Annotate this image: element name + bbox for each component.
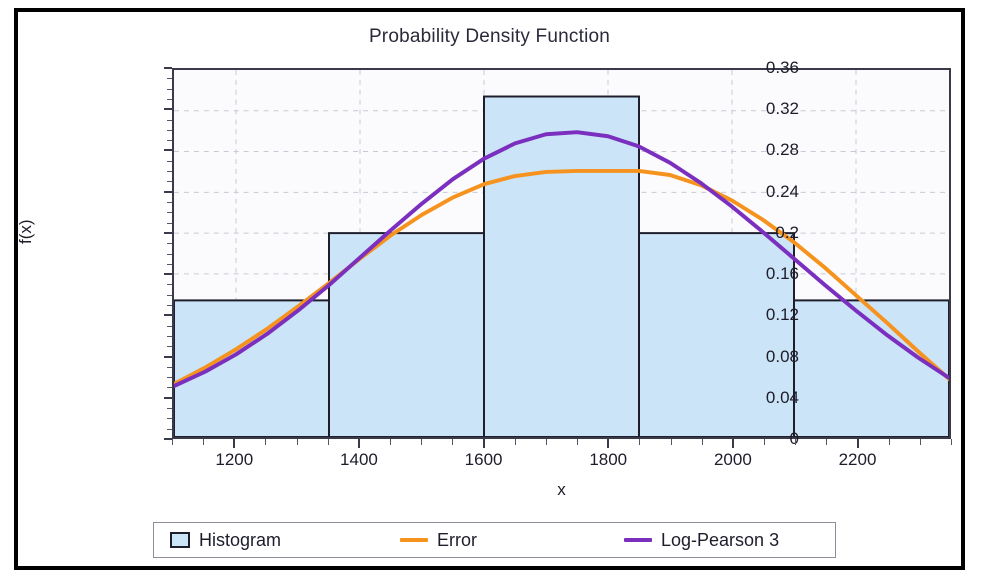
- legend-swatch-icon: [400, 538, 428, 542]
- x-tick-mark: [233, 439, 235, 448]
- x-tick-minor: [515, 439, 516, 445]
- x-tick-label: 1600: [465, 450, 503, 470]
- legend-item-error[interactable]: Error: [400, 530, 477, 551]
- histogram-bar: [174, 300, 329, 437]
- plot-area: [172, 68, 951, 439]
- chart-legend: HistogramErrorLog-Pearson 3: [153, 522, 836, 558]
- y-tick-minor: [167, 387, 172, 388]
- y-tick-minor: [167, 120, 172, 121]
- y-tick-minor: [167, 264, 172, 265]
- x-tick-mark: [607, 439, 609, 448]
- y-tick-minor: [167, 89, 172, 90]
- y-tick-label: 0.24: [766, 182, 799, 202]
- y-tick-mark: [164, 438, 172, 440]
- x-tick-minor: [702, 439, 703, 445]
- y-tick-label: 0.2: [775, 223, 799, 243]
- y-tick-mark: [164, 67, 172, 69]
- y-tick-mark: [164, 314, 172, 316]
- legend-item-label: Error: [437, 530, 477, 551]
- legend-swatch-icon: [624, 538, 652, 542]
- y-tick-minor: [167, 161, 172, 162]
- y-tick-minor: [167, 223, 172, 224]
- x-tick-minor: [951, 439, 952, 445]
- y-tick-minor: [167, 429, 172, 430]
- y-tick-minor: [167, 336, 172, 337]
- x-tick-minor: [920, 439, 921, 445]
- legend-item-label: Log-Pearson 3: [661, 530, 779, 551]
- legend-swatch-icon: [170, 532, 190, 548]
- x-tick-minor: [390, 439, 391, 445]
- y-tick-minor: [167, 78, 172, 79]
- y-tick-mark: [164, 273, 172, 275]
- y-tick-label: 0.28: [766, 140, 799, 160]
- y-tick-mark: [164, 108, 172, 110]
- x-tick-minor: [639, 439, 640, 445]
- x-tick-minor: [328, 439, 329, 445]
- x-tick-minor: [421, 439, 422, 445]
- y-tick-minor: [167, 295, 172, 296]
- x-tick-label: 2000: [714, 450, 752, 470]
- y-tick-minor: [167, 254, 172, 255]
- x-tick-minor: [297, 439, 298, 445]
- y-tick-minor: [167, 284, 172, 285]
- x-tick-minor: [671, 439, 672, 445]
- y-tick-minor: [167, 305, 172, 306]
- y-tick-minor: [167, 212, 172, 213]
- x-axis-label: x: [172, 480, 951, 500]
- y-tick-minor: [167, 181, 172, 182]
- y-tick-minor: [167, 346, 172, 347]
- y-tick-mark: [164, 149, 172, 151]
- y-tick-mark: [164, 232, 172, 234]
- y-tick-minor: [167, 202, 172, 203]
- legend-item-histogram[interactable]: Histogram: [170, 530, 281, 551]
- x-tick-minor: [764, 439, 765, 445]
- y-tick-label: 0.04: [766, 388, 799, 408]
- y-tick-mark: [164, 356, 172, 358]
- y-tick-label: 0.32: [766, 99, 799, 119]
- y-tick-minor: [167, 408, 172, 409]
- x-tick-label: 1800: [589, 450, 627, 470]
- y-tick-label: 0.36: [766, 58, 799, 78]
- y-axis-label: f(x): [16, 219, 36, 244]
- x-tick-label: 1200: [215, 450, 253, 470]
- legend-item-log-pearson-3[interactable]: Log-Pearson 3: [624, 530, 779, 551]
- y-tick-minor: [167, 99, 172, 100]
- x-tick-minor: [172, 439, 173, 445]
- x-tick-minor: [546, 439, 547, 445]
- x-tick-minor: [577, 439, 578, 445]
- y-tick-label: 0.16: [766, 264, 799, 284]
- x-tick-label: 2200: [839, 450, 877, 470]
- y-tick-minor: [167, 377, 172, 378]
- y-tick-label: 0.08: [766, 347, 799, 367]
- y-tick-mark: [164, 397, 172, 399]
- y-tick-minor: [167, 130, 172, 131]
- y-tick-minor: [167, 171, 172, 172]
- y-tick-mark: [164, 191, 172, 193]
- x-tick-label: 1400: [340, 450, 378, 470]
- y-tick-minor: [167, 367, 172, 368]
- y-tick-minor: [167, 418, 172, 419]
- x-tick-mark: [857, 439, 859, 448]
- x-tick-minor: [452, 439, 453, 445]
- x-tick-mark: [483, 439, 485, 448]
- plot-canvas: [174, 70, 949, 437]
- y-tick-minor: [167, 326, 172, 327]
- y-tick-label: 0.12: [766, 305, 799, 325]
- figure-panel: Probability Density Function f(x) 0.360.…: [14, 8, 965, 570]
- x-tick-minor: [795, 439, 796, 445]
- x-tick-minor: [203, 439, 204, 445]
- legend-item-label: Histogram: [199, 530, 281, 551]
- x-tick-minor: [826, 439, 827, 445]
- y-tick-minor: [167, 243, 172, 244]
- x-tick-mark: [358, 439, 360, 448]
- x-tick-minor: [265, 439, 266, 445]
- y-tick-minor: [167, 140, 172, 141]
- x-tick-mark: [732, 439, 734, 448]
- chart-title: Probability Density Function: [18, 26, 961, 48]
- x-tick-minor: [889, 439, 890, 445]
